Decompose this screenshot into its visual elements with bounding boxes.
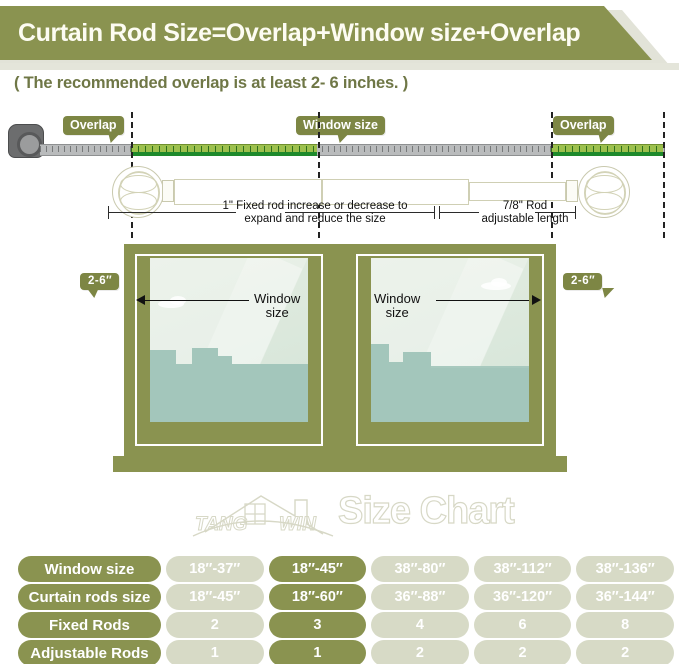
window-size-left-line-1: Window — [254, 291, 300, 306]
window-size-label-left: Window size — [254, 292, 300, 320]
callout-right-overlap-inches: 2-6″ — [563, 273, 602, 290]
guide-line-overlap-right-end — [663, 112, 665, 238]
building-shape — [403, 352, 431, 422]
brand-name-right: WIN — [279, 514, 316, 536]
table-cell: 2 — [371, 640, 469, 664]
banner-underbar — [0, 63, 679, 70]
window-size-leader-left-stub — [145, 300, 159, 301]
callout-tail — [335, 133, 349, 143]
callout-overlap-right: Overlap — [553, 116, 614, 135]
table-cell: 36″-144″ — [576, 584, 674, 610]
table-cell: 38″-112″ — [474, 556, 572, 582]
building-shape — [176, 364, 192, 422]
table-row-label: Adjustable Rods — [18, 640, 161, 664]
size-chart-infographic: Curtain Rod Size=Overlap+Window size+Ove… — [0, 0, 679, 664]
fixed-rod-line-1: 1" Fixed rod increase or decrease to — [223, 200, 408, 212]
rod-and-window-diagram: Overlap Window size Overlap — [0, 108, 679, 488]
window-size-right-line-1: Window — [374, 291, 420, 306]
table-cell: 2 — [474, 640, 572, 664]
header-banner: Curtain Rod Size=Overlap+Window size+Ove… — [0, 6, 679, 66]
table-cell: 2 — [166, 612, 264, 638]
callout-left-overlap-inches-label: 2-6″ — [88, 275, 112, 287]
finial-left-icon — [112, 166, 164, 218]
callout-tail — [106, 133, 120, 143]
adjustable-line-2: adjustable length — [482, 213, 569, 225]
table-row: Curtain rods size18″-45″18″-60″36″-88″36… — [0, 584, 679, 610]
building-shape — [232, 364, 308, 422]
rod-segment-3-adjustable — [469, 182, 566, 201]
table-cell: 18″-60″ — [269, 584, 367, 610]
window-size-leader-right — [436, 300, 529, 301]
table-row: Window size18″-37″18″-45″38″-80″38″-112″… — [0, 556, 679, 582]
window-size-left-line-2: size — [266, 305, 289, 320]
table-row-label: Fixed Rods — [18, 612, 161, 638]
window-size-label-right: Window size — [374, 292, 420, 320]
table-cell: 1 — [269, 640, 367, 664]
table-cell: 4 — [371, 612, 469, 638]
fixed-rod-line-2: expand and reduce the size — [244, 213, 385, 225]
page-title: Curtain Rod Size=Overlap+Window size+Ove… — [0, 19, 580, 48]
dimension-tick — [108, 206, 109, 219]
window-size-arrow-left — [136, 295, 145, 305]
window-size-arrow-right — [532, 295, 541, 305]
window-glass-left — [150, 258, 308, 422]
finial-detail — [120, 192, 157, 210]
table-cell: 36″-88″ — [371, 584, 469, 610]
cityscape-silhouette — [150, 330, 308, 422]
table-cell: 2 — [576, 640, 674, 664]
size-spec-table: Window size18″-37″18″-45″38″-80″38″-112″… — [0, 556, 679, 664]
table-cell: 38″-80″ — [371, 556, 469, 582]
table-cell: 18″-37″ — [166, 556, 264, 582]
finial-detail — [586, 175, 623, 193]
building-shape — [192, 348, 218, 422]
banner-ribbon: Curtain Rod Size=Overlap+Window size+Ove… — [0, 6, 652, 60]
table-cell: 38″-136″ — [576, 556, 674, 582]
callout-left-overlap-inches: 2-6″ — [80, 273, 119, 290]
tape-measure-icon — [8, 124, 44, 158]
callout-tail — [596, 133, 610, 143]
brand-logo: TANG WIN Size Chart — [183, 484, 513, 550]
callout-overlap-left: Overlap — [63, 116, 124, 135]
building-shape — [218, 356, 232, 422]
callout-window-size-top-label: Window size — [303, 118, 378, 132]
callout-tail — [87, 288, 101, 298]
table-cell: 18″-45″ — [166, 584, 264, 610]
window-size-right-line-2: size — [386, 305, 409, 320]
tape-overlap-left-segment — [131, 144, 317, 156]
table-row: Adjustable Rods11222 — [0, 640, 679, 664]
building-shape — [431, 368, 529, 422]
window-sill — [113, 456, 567, 472]
dimension-label-adjustable-rod: 7/8" Rod adjustable length — [472, 200, 578, 226]
table-row-label: Curtain rods size — [18, 584, 161, 610]
adjustable-line-1: 7/8" Rod — [503, 200, 547, 212]
dimension-label-fixed-rod: 1" Fixed rod increase or decrease to exp… — [185, 200, 445, 226]
table-cell: 18″-45″ — [269, 556, 367, 582]
cloud-icon — [491, 278, 507, 287]
rod-collar-left — [162, 180, 174, 202]
rod-collar-right — [566, 180, 578, 202]
callout-tail — [600, 288, 614, 298]
brand-name-left: TANG — [195, 514, 247, 536]
window-size-leader-left — [157, 300, 249, 301]
subtitle-text: ( The recommended overlap is at least 2-… — [14, 74, 408, 93]
table-row: Fixed Rods23468 — [0, 612, 679, 638]
finial-right-icon — [578, 166, 630, 218]
table-cell: 8 — [576, 612, 674, 638]
callout-overlap-left-label: Overlap — [70, 118, 117, 132]
callout-right-overlap-inches-label: 2-6″ — [571, 275, 595, 287]
table-row-label: Window size — [18, 556, 161, 582]
window-illustration: Window size Window size — [124, 244, 556, 456]
table-cell: 1 — [166, 640, 264, 664]
callout-overlap-right-label: Overlap — [560, 118, 607, 132]
finial-detail — [120, 175, 157, 193]
finial-detail — [586, 192, 623, 210]
table-cell: 36″-120″ — [474, 584, 572, 610]
logo-title: Size Chart — [338, 490, 514, 533]
table-cell: 6 — [474, 612, 572, 638]
building-shape — [371, 344, 389, 422]
window-glass-right — [371, 258, 529, 422]
tape-overlap-right-segment — [551, 144, 663, 156]
table-cell: 3 — [269, 612, 367, 638]
building-shape — [389, 362, 403, 422]
callout-window-size-top: Window size — [296, 116, 385, 135]
building-shape — [150, 350, 176, 422]
cityscape-silhouette — [371, 330, 529, 422]
